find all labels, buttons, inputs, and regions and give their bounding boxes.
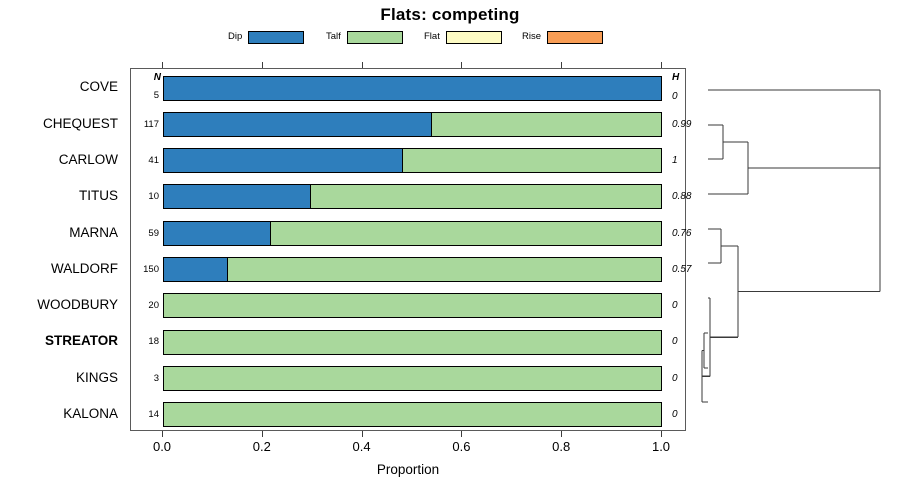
- table-row: 180: [131, 325, 687, 360]
- stacked-bar[interactable]: [163, 76, 662, 101]
- table-row: 50: [131, 71, 687, 106]
- x-axis-title: Proportion: [130, 462, 686, 477]
- legend-item-talf[interactable]: Talf: [326, 29, 403, 45]
- bar-segment-talf[interactable]: [164, 331, 661, 354]
- n-value: 41: [131, 143, 161, 178]
- table-row: 140: [131, 397, 687, 432]
- n-value: 10: [131, 179, 161, 214]
- bar-segment-talf[interactable]: [164, 367, 661, 390]
- legend: Dip Talf Flat Rise: [228, 29, 588, 45]
- stacked-bar[interactable]: [163, 293, 662, 318]
- stacked-bar[interactable]: [163, 330, 662, 355]
- x-tick: [362, 431, 363, 437]
- table-row: 200: [131, 288, 687, 323]
- table-row: 30: [131, 361, 687, 396]
- bar-segment-talf[interactable]: [164, 294, 661, 317]
- stacked-bar[interactable]: [163, 366, 662, 391]
- n-value: 18: [131, 325, 161, 360]
- stacked-bar[interactable]: [163, 112, 662, 137]
- chart-title: Flats: competing: [0, 5, 900, 25]
- dendrogram-svg: [690, 60, 900, 440]
- x-tick-label: 0.8: [552, 439, 570, 454]
- bar-segment-dip[interactable]: [164, 222, 271, 245]
- n-value: 5: [131, 71, 161, 106]
- x-tick: [262, 431, 263, 437]
- stacked-bar[interactable]: [163, 221, 662, 246]
- n-value: 150: [131, 252, 161, 287]
- table-row: 590.76: [131, 216, 687, 251]
- x-tick-label: 0.2: [253, 439, 271, 454]
- x-tick: [461, 431, 462, 437]
- legend-item-rise[interactable]: Rise: [522, 29, 603, 45]
- bar-segment-dip[interactable]: [164, 258, 228, 281]
- y-axis-label-woodbury: WOODBURY: [37, 287, 118, 322]
- n-value: 20: [131, 288, 161, 323]
- x-tick-label: 1.0: [652, 439, 670, 454]
- bar-segment-talf[interactable]: [164, 403, 661, 426]
- y-axis-label-chequest: CHEQUEST: [43, 106, 118, 141]
- legend-item-dip[interactable]: Dip: [228, 29, 304, 45]
- x-axis: 0.00.20.40.60.81.0: [130, 431, 686, 453]
- plot-panel: N H 501170.99411100.88590.761500.5720018…: [130, 68, 686, 431]
- legend-item-flat[interactable]: Flat: [424, 29, 502, 45]
- table-row: 100.88: [131, 179, 687, 214]
- x-tick: [661, 431, 662, 437]
- stacked-bar[interactable]: [163, 184, 662, 209]
- legend-swatch-rise: [547, 31, 603, 44]
- table-row: 1170.99: [131, 107, 687, 142]
- stacked-bar[interactable]: [163, 257, 662, 282]
- legend-swatch-talf: [347, 31, 403, 44]
- legend-swatch-flat: [446, 31, 502, 44]
- bar-segment-talf[interactable]: [403, 149, 661, 172]
- legend-label-flat: Flat: [424, 32, 440, 42]
- legend-label-talf: Talf: [326, 32, 341, 42]
- bar-segment-dip[interactable]: [164, 113, 432, 136]
- y-axis-labels: COVECHEQUESTCARLOWTITUSMARNAWALDORFWOODB…: [0, 68, 124, 431]
- legend-swatch-dip: [248, 31, 304, 44]
- legend-label-rise: Rise: [522, 32, 541, 42]
- bar-segment-talf[interactable]: [311, 185, 661, 208]
- stacked-bar[interactable]: [163, 148, 662, 173]
- x-tick-label: 0.0: [153, 439, 171, 454]
- x-tick: [162, 431, 163, 437]
- y-axis-label-kings: KINGS: [76, 360, 118, 395]
- y-axis-label-titus: TITUS: [79, 178, 118, 213]
- table-row: 411: [131, 143, 687, 178]
- bar-segment-talf[interactable]: [228, 258, 661, 281]
- n-value: 59: [131, 216, 161, 251]
- y-axis-label-waldorf: WALDORF: [51, 251, 118, 286]
- bar-segment-dip[interactable]: [164, 77, 661, 100]
- y-axis-label-cove: COVE: [80, 70, 118, 105]
- y-axis-label-marna: MARNA: [69, 215, 118, 250]
- legend-label-dip: Dip: [228, 32, 242, 42]
- n-value: 14: [131, 397, 161, 432]
- dendrogram: [690, 60, 900, 440]
- bar-segment-dip[interactable]: [164, 149, 403, 172]
- x-tick: [561, 431, 562, 437]
- table-row: 1500.57: [131, 252, 687, 287]
- n-value: 3: [131, 361, 161, 396]
- n-value: 117: [131, 107, 161, 142]
- bar-segment-dip[interactable]: [164, 185, 311, 208]
- bar-segment-talf[interactable]: [432, 113, 661, 136]
- x-tick-label: 0.6: [452, 439, 470, 454]
- y-axis-label-kalona: KALONA: [63, 396, 118, 431]
- y-axis-label-carlow: CARLOW: [59, 142, 118, 177]
- chart-root: Flats: competing Dip Talf Flat Rise COVE…: [0, 0, 900, 500]
- y-axis-label-streator: STREATOR: [45, 324, 118, 359]
- stacked-bar[interactable]: [163, 402, 662, 427]
- bar-segment-talf[interactable]: [271, 222, 661, 245]
- bar-rows: 501170.99411100.88590.761500.57200180301…: [131, 69, 687, 432]
- x-tick-label: 0.4: [353, 439, 371, 454]
